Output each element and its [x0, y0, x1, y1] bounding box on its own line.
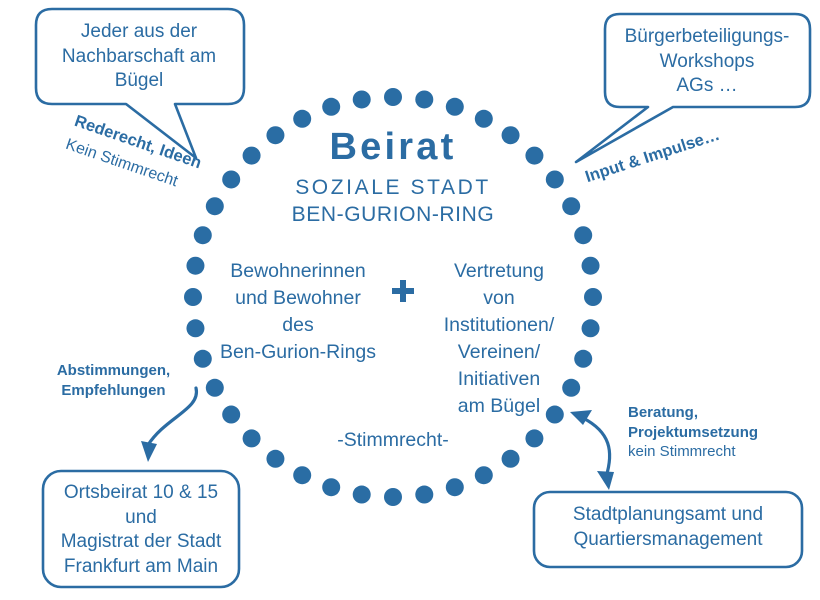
ring-dot	[184, 288, 202, 306]
relation-label-beratung: Beratung,Projektumsetzung	[628, 403, 784, 444]
ring-dot	[206, 379, 224, 397]
ring-dot	[293, 466, 311, 484]
ring-dot	[384, 488, 402, 506]
ring-dot	[206, 197, 224, 215]
ring-dot	[222, 406, 240, 424]
ring-dot	[266, 450, 284, 468]
ring-dot	[574, 226, 592, 244]
diagram-canvas: Beirat SOZIALE STADT BEN-GURION-RING Bew…	[0, 0, 820, 600]
ring-member-group-residents: Bewohnerinnenund BewohnerdesBen-Gurion-R…	[206, 258, 390, 366]
ring-dot	[582, 319, 600, 337]
ring-dot	[322, 478, 340, 496]
relation-label-abstimmungen: Abstimmungen,Empfehlungen	[46, 361, 181, 402]
ring-dot	[525, 429, 543, 447]
ring-dot	[546, 170, 564, 188]
ring-dot	[584, 288, 602, 306]
ring-dot	[562, 197, 580, 215]
voting-right-note: -Stimmrecht-	[293, 429, 493, 452]
ring-dot	[186, 257, 204, 275]
callout-top-left-label: Jeder aus derNachbarschaft amBügel	[36, 20, 242, 94]
ring-dot	[353, 90, 371, 108]
callout-top-right-label: Bürgerbeteiligungs-WorkshopsAGs …	[607, 25, 807, 99]
ring-dot	[415, 90, 433, 108]
ring-dot	[446, 98, 464, 116]
ring-dot	[446, 478, 464, 496]
ring-dot	[322, 98, 340, 116]
plus-icon	[388, 276, 418, 306]
page-subtitle-line2: BEN-GURION-RING	[243, 203, 543, 227]
ring-dot	[194, 226, 212, 244]
relation-label-kein-stimmrecht-bottom-right: kein Stimmrecht	[628, 443, 784, 460]
ring-dot	[384, 88, 402, 106]
ring-dot	[502, 450, 520, 468]
ring-dot	[222, 170, 240, 188]
ring-dot	[415, 486, 433, 504]
ring-dot	[582, 257, 600, 275]
arrow-bidirectional-stadtplanungsamt	[570, 410, 614, 490]
ring-member-group-institutions: VertretungvonInstitutionen/Vereinen/Init…	[418, 258, 580, 419]
page-subtitle-line1: SOZIALE STADT	[243, 176, 543, 200]
ring-dot	[243, 429, 261, 447]
ring-dot	[353, 486, 371, 504]
box-bottom-right-label: Stadtplanungsamt undQuartiersmanagement	[535, 503, 801, 552]
ring-dot	[475, 466, 493, 484]
page-title: Beirat	[243, 126, 543, 169]
ring-dot	[186, 319, 204, 337]
box-bottom-left-label: Ortsbeirat 10 & 15undMagistrat der Stadt…	[44, 481, 238, 580]
